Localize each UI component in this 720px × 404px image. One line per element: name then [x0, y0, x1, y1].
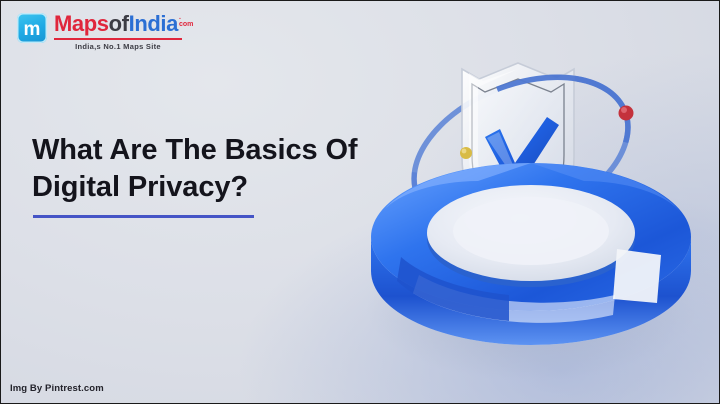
logo-word-india: India — [129, 13, 178, 35]
logo-divider — [54, 38, 182, 40]
headline-underline — [33, 215, 254, 218]
logo-word-dotcom: . com — [179, 14, 193, 29]
shield-pedestal-graphic — [361, 41, 720, 404]
promo-card: m Maps of India . com India,s No.1 Maps … — [0, 0, 720, 404]
orbit-dot-red-icon — [619, 106, 634, 121]
logo-word-maps: Maps — [54, 13, 109, 35]
logo-wordmark: Maps of India . com — [54, 13, 193, 35]
pedestal-inner-disc — [453, 197, 609, 265]
pedestal-gap-notch — [613, 249, 661, 303]
logo-mark-letter: m — [24, 20, 41, 39]
image-credit: Img By Pintrest.com — [10, 383, 104, 394]
logo-text-block: Maps of India . com India,s No.1 Maps Si… — [54, 13, 193, 51]
logo-dot: . — [179, 14, 193, 21]
logo-mark-icon: m — [17, 13, 47, 43]
site-logo[interactable]: m Maps of India . com India,s No.1 Maps … — [17, 13, 193, 51]
logo-tagline: India,s No.1 Maps Site — [54, 42, 182, 51]
pedestal-ring — [371, 163, 691, 345]
logo-com: com — [179, 21, 193, 28]
orbit-dot-gold-icon — [460, 147, 472, 159]
logo-word-of: of — [109, 13, 129, 35]
hero-illustration — [361, 41, 720, 404]
